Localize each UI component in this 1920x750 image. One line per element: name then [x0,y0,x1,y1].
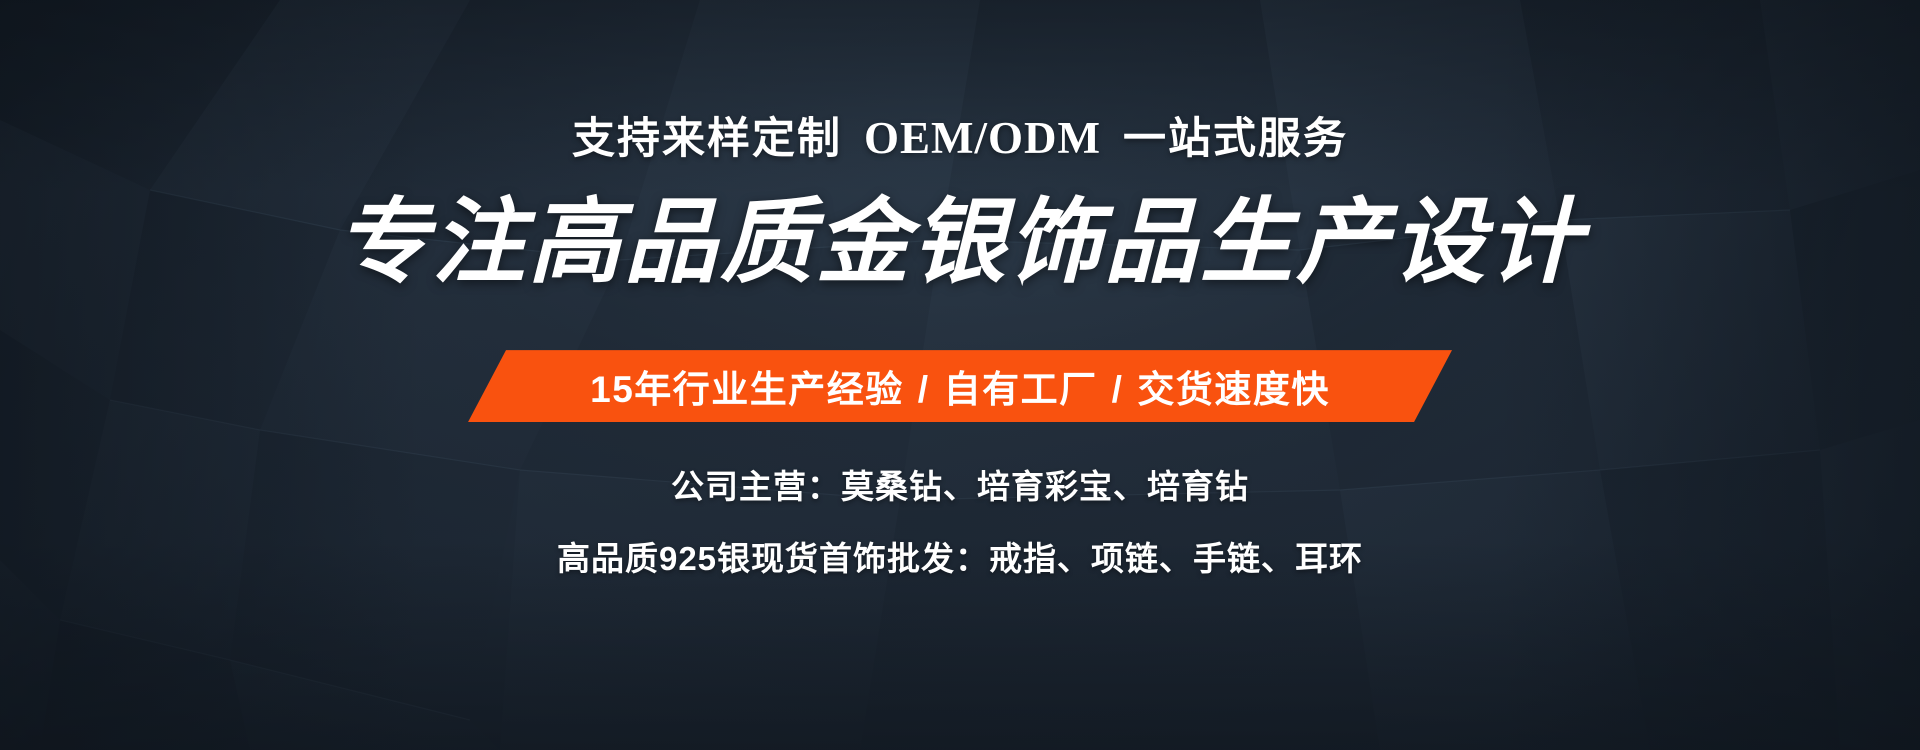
feature-item-factory: 自有工厂 [944,369,1098,410]
feature-ribbon-text: 15年行业生产经验/自有工厂/交货速度快 [590,359,1330,413]
feature-item-experience: 15年行业生产经验 [590,369,904,410]
feature-ribbon: 15年行业生产经验/自有工厂/交货速度快 [468,350,1452,422]
description-line-main-products: 公司主营：莫桑钻、培育彩宝、培育钻 [671,460,1249,508]
feature-separator-1: / [904,369,944,411]
feature-ribbon-shape: 15年行业生产经验/自有工厂/交货速度快 [468,350,1452,422]
banner-headline: 专注高品质金银饰品生产设计 [336,190,1584,294]
feature-separator-2: / [1098,369,1138,411]
description-line-silver-wholesale: 高品质925银现货首饰批发：戒指、项链、手链、耳环 [557,532,1363,580]
feature-item-delivery: 交货速度快 [1137,369,1330,410]
subtitle-cn-right: 一站式服务 [1123,115,1348,163]
banner-content: 支持来样定制OEM/ODM一站式服务 专注高品质金银饰品生产设计 15年行业生产… [0,0,1920,750]
promo-banner: 支持来样定制OEM/ODM一站式服务 专注高品质金银饰品生产设计 15年行业生产… [0,0,1920,750]
subtitle-oem-odm: OEM/ODM [864,113,1101,163]
banner-subtitle: 支持来样定制OEM/ODM一站式服务 [572,104,1348,166]
subtitle-cn-left: 支持来样定制 [572,115,842,163]
